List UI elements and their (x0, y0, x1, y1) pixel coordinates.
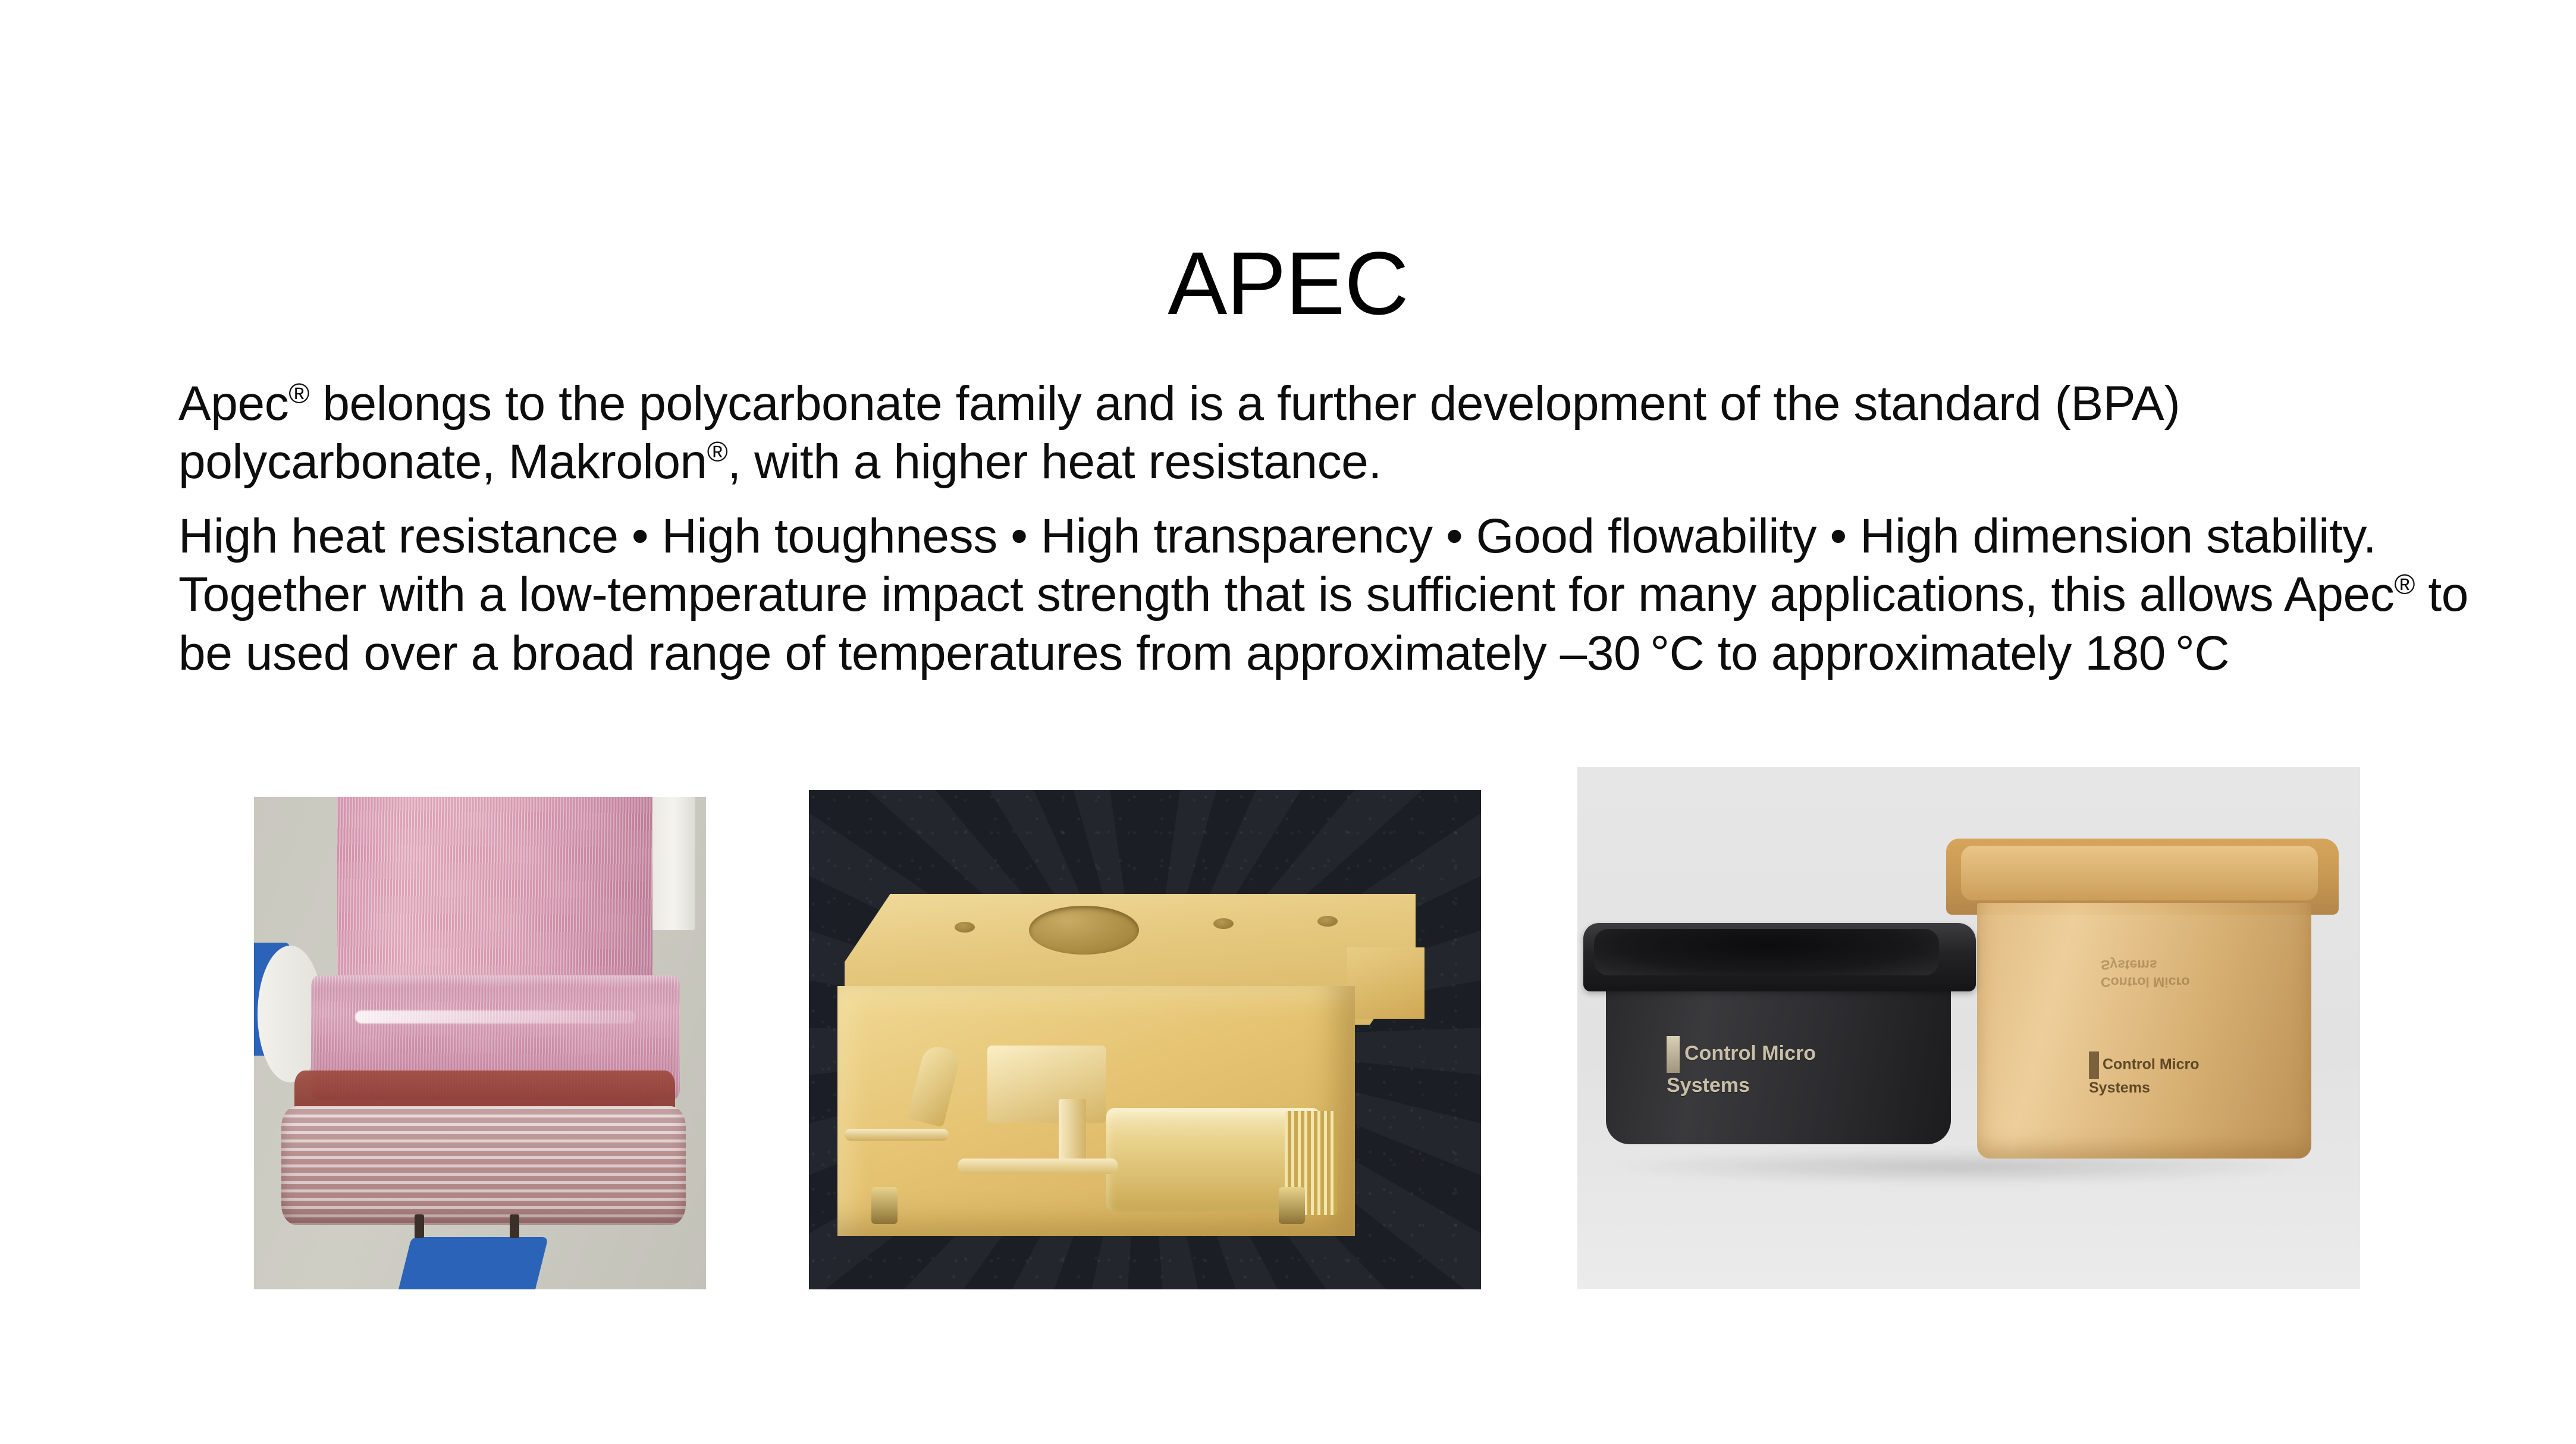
black-pan-interior-shape (1594, 929, 1939, 975)
base-clip-shape (415, 1214, 424, 1238)
mount-hole-shape (1279, 1187, 1305, 1224)
amber-pan-body-shape (1977, 903, 2311, 1159)
wall-plate-shape (649, 797, 695, 930)
slide-canvas: APEC Apec® belongs to the polycarbonate … (0, 0, 2576, 1444)
filter-base-ring-shape (281, 1106, 686, 1225)
internal-rod-shape (845, 1129, 949, 1141)
base-clip-shape (510, 1214, 519, 1238)
paragraph-properties: High heat resistance • High toughness • … (178, 507, 2480, 683)
body-text-block: Apec® belongs to the polycarbonate famil… (178, 375, 2480, 698)
logo-line-1: Control Micro (2101, 975, 2190, 990)
photo-machined-block (809, 790, 1481, 1289)
logo-line-2: Systems (1667, 1074, 1750, 1097)
blue-outlet-shape (394, 1237, 548, 1289)
amber-pan-interior-shape (1961, 846, 2318, 900)
small-hole-shape (955, 922, 975, 933)
registered-mark: ® (707, 437, 728, 468)
large-bore-shape (1029, 906, 1139, 955)
mount-hole-shape (871, 1187, 898, 1224)
page-title: APEC (0, 238, 2576, 328)
registered-mark: ® (2394, 569, 2415, 601)
logo-line-2: Systems (2101, 958, 2157, 973)
logo-line-2: Systems (2089, 1079, 2150, 1096)
logo-line-1: Control Micro (2103, 1056, 2200, 1073)
amber-pan-logo-reflection: Control Micro Systems (2101, 956, 2190, 991)
brand-mark-icon (2089, 1051, 2099, 1079)
photo-filter-cartridge (254, 797, 706, 1289)
internal-channel-shape (987, 1046, 1106, 1123)
internal-pin-shape (1059, 1099, 1086, 1164)
small-hole-shape (1213, 918, 1234, 929)
brand-mark-icon (1667, 1036, 1680, 1073)
small-hole-shape (1317, 916, 1338, 927)
photo-food-pans: Control Micro Systems Control Micro Syst… (1577, 767, 2360, 1289)
internal-rod-shape (958, 1159, 1118, 1174)
paragraph-intro: Apec® belongs to the polycarbonate famil… (178, 375, 2480, 492)
black-pan-logo: Control Micro Systems (1667, 1036, 1816, 1099)
block-right-boss-shape (1347, 947, 1425, 1019)
registered-mark: ® (288, 378, 309, 410)
logo-line-1: Control Micro (1684, 1042, 1816, 1065)
amber-pan-logo: Control Micro Systems (2089, 1051, 2200, 1097)
